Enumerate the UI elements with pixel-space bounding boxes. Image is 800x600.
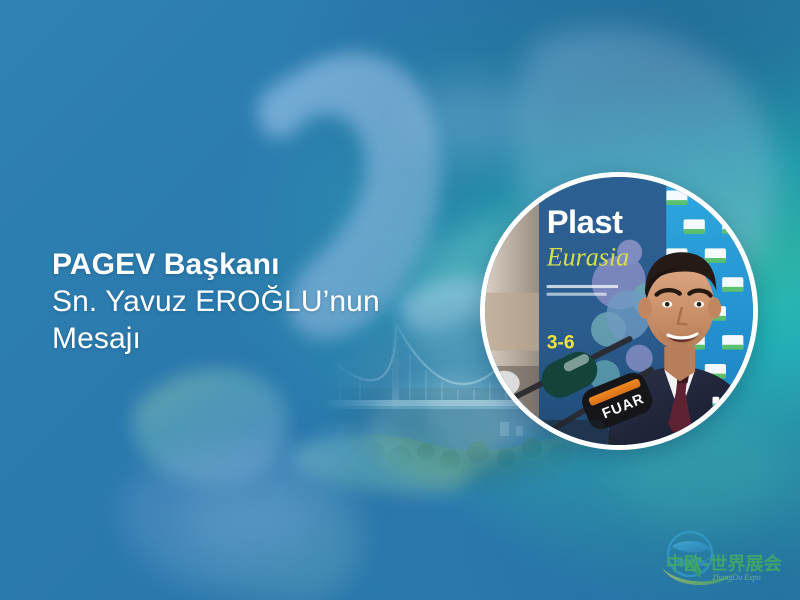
watermark-chinese-text: 中欧-世界展会 [666, 553, 781, 575]
portrait-image: Plast Eurasia 3-6 [485, 177, 753, 445]
watermark-logo: 中欧-世界展会 ZhongOu Expo [650, 528, 782, 590]
svg-text:Plast: Plast [547, 203, 623, 240]
headline-line-3: Mesajı [52, 320, 452, 357]
slide-canvas: PAGEV Başkanı Sn. Yavuz EROĞLU’nun Mesaj… [0, 0, 800, 600]
headline-line-1: PAGEV Başkanı [52, 246, 452, 283]
watermark-latin-text: ZhongOu Expo [712, 573, 761, 582]
svg-text:Eurasia: Eurasia [546, 243, 629, 272]
speaker-portrait: Plast Eurasia 3-6 [480, 172, 758, 450]
slide-headline: PAGEV Başkanı Sn. Yavuz EROĞLU’nun Mesaj… [52, 246, 452, 358]
svg-text:3-6: 3-6 [547, 333, 575, 354]
headline-line-2: Sn. Yavuz EROĞLU’nun [52, 283, 452, 320]
